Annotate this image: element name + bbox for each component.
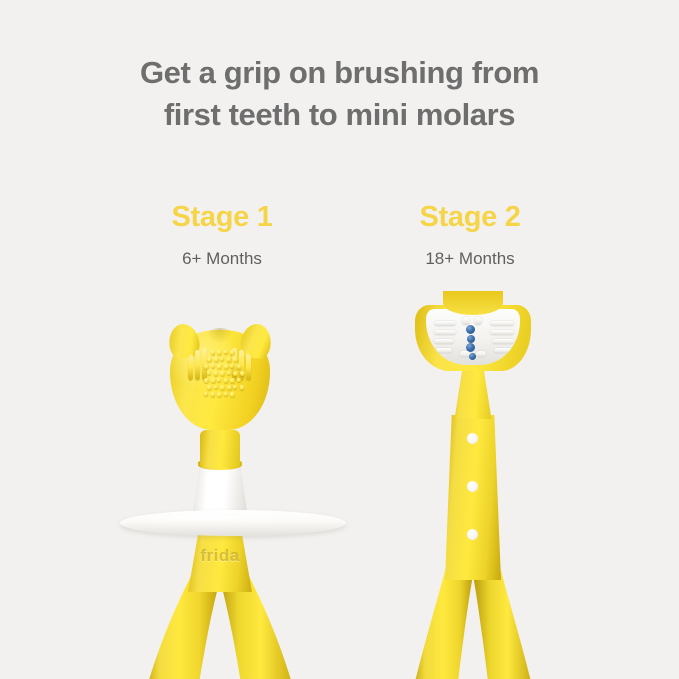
bristle-nub: [233, 357, 238, 362]
stage-2-product-image: [395, 305, 565, 679]
stage-1-title: Stage 1: [92, 200, 352, 234]
bristle-nub: [217, 350, 222, 355]
bristle-nub: [204, 364, 209, 369]
bristle-nub: [237, 378, 241, 382]
bristle-tuft: [434, 321, 456, 326]
bristle-nub: [195, 350, 200, 380]
indicator-bristle-tuft: [467, 335, 475, 343]
bristle-nub: [230, 350, 235, 355]
bristle-nub: [224, 350, 228, 354]
stage-2-head-top-dip: [443, 291, 503, 315]
brand-logo-frida: frida: [188, 546, 252, 566]
indicator-bristle-tuft: [466, 343, 475, 352]
bristle-nub: [214, 371, 219, 376]
bristle-nub: [211, 378, 216, 383]
bristle-nub: [233, 371, 238, 376]
bristle-nub: [211, 350, 216, 355]
bristle-nub: [217, 378, 221, 382]
stage-2-brush-head: [415, 305, 531, 375]
bristle-nub: [214, 357, 219, 362]
bristle-nub: [224, 378, 229, 383]
bristle-nub: [220, 371, 225, 376]
bristle-nub: [211, 392, 216, 397]
bristle-nub: [188, 354, 193, 380]
bristle-nub: [233, 385, 237, 389]
bristle-nub: [224, 392, 228, 396]
headline-line-2: first teeth to mini molars: [0, 94, 679, 136]
bristle-nub: [240, 385, 245, 390]
bristle-nub: [227, 357, 232, 362]
bristle-nub: [204, 392, 208, 396]
bristle-tuft: [492, 339, 514, 344]
bristle-nub: [211, 364, 215, 368]
bristle-nub: [220, 385, 225, 390]
bristle-tuft: [436, 348, 452, 353]
bristle-nub: [220, 357, 224, 361]
stage-1-head-notch: [206, 328, 234, 344]
bristle-nub: [240, 371, 245, 376]
stage-1-shield-highlight: [144, 514, 294, 522]
bristle-nub: [227, 385, 232, 390]
bristle-nub: [214, 385, 218, 389]
bristle-tuft: [490, 330, 514, 335]
bristle-nub: [217, 364, 222, 369]
stage-2-grip-dot: [467, 529, 478, 540]
stage-1-label-block: Stage 1 6+ Months: [92, 200, 352, 270]
bristle-nub: [230, 378, 235, 383]
bristle-nub: [227, 371, 231, 375]
bristle-nub: [217, 392, 222, 397]
stage-2-label-block: Stage 2 18+ Months: [340, 200, 600, 270]
stage-2-grip-dot: [467, 481, 478, 492]
stage-1-teether-head: [170, 330, 270, 448]
product-comparison-image: Get a grip on brushing from first teeth …: [0, 0, 679, 679]
bristle-tuft: [476, 351, 486, 357]
bristle-tuft: [434, 330, 456, 335]
bristle-nub: [207, 385, 212, 390]
stage-2-grip-dot: [467, 433, 478, 444]
bristle-nub: [207, 371, 211, 375]
headline-line-1: Get a grip on brushing from: [0, 52, 679, 94]
bristle-nub: [224, 364, 229, 369]
bristle-tuft: [494, 348, 512, 353]
indicator-bristle-tuft: [469, 353, 476, 360]
stage-1-product-image: frida: [120, 330, 350, 679]
bristle-nub: [230, 392, 235, 397]
indicator-bristle-tuft: [466, 325, 475, 334]
bristle-nub: [246, 354, 251, 380]
stage-2-age: 18+ Months: [340, 248, 600, 270]
stage-1-age: 6+ Months: [92, 248, 352, 270]
page-title: Get a grip on brushing from first teeth …: [0, 52, 679, 136]
bristle-nub: [204, 378, 209, 383]
bristle-nub: [207, 357, 212, 362]
bristle-tuft: [474, 317, 482, 325]
bristle-tuft: [462, 317, 470, 325]
bristle-tuft: [434, 339, 454, 344]
bristle-tuft: [490, 321, 514, 326]
stage-2-title: Stage 2: [340, 200, 600, 234]
